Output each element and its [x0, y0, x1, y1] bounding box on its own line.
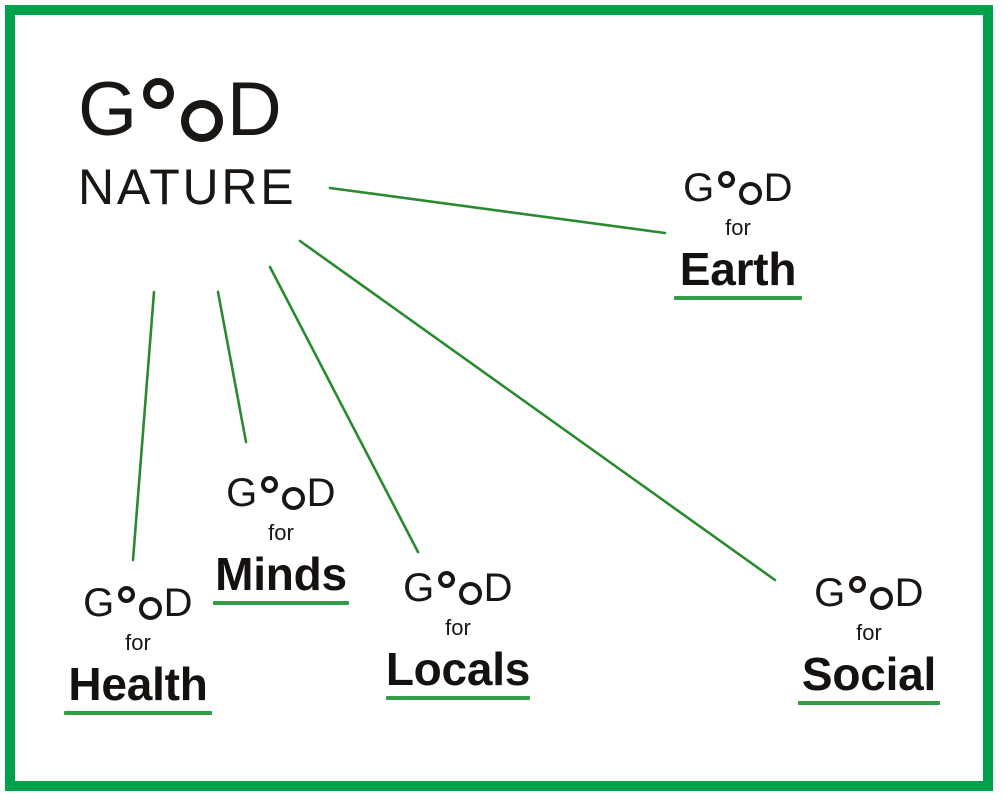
letter-d: D: [764, 168, 793, 208]
letter-g: G: [814, 573, 846, 613]
connector-word: for: [663, 217, 813, 239]
letter-g: G: [403, 568, 435, 608]
root-node-good-nature: G D NATURE: [78, 72, 296, 212]
diagram-canvas: G D NATURE G D for Earth G D for Health: [0, 0, 1004, 804]
letter-g: G: [226, 473, 258, 513]
letter-o-small: [143, 78, 174, 109]
root-brand-nature: NATURE: [78, 162, 296, 212]
brand-good: G D: [83, 583, 193, 623]
node-good-for-earth: G D for Earth: [663, 168, 813, 300]
edge-nature-to-earth: [330, 188, 665, 233]
letter-g: G: [683, 168, 715, 208]
letter-o-small: [718, 171, 735, 188]
edge-nature-to-health: [133, 292, 154, 560]
letter-o-large: [870, 587, 893, 610]
letter-o-small: [438, 571, 455, 588]
connector-word: for: [58, 632, 218, 654]
node-good-for-minds: G D for Minds: [205, 473, 357, 605]
letter-d: D: [484, 568, 513, 608]
node-label: Health: [68, 661, 207, 707]
letter-d: D: [307, 473, 336, 513]
letter-g: G: [78, 72, 138, 148]
letter-d: D: [895, 573, 924, 613]
letter-o-large: [181, 100, 223, 142]
connector-word: for: [378, 617, 538, 639]
letter-o-large: [282, 487, 305, 510]
node-good-for-locals: G D for Locals: [378, 568, 538, 700]
label-underline: [386, 696, 530, 700]
brand-good: G D: [226, 473, 336, 513]
node-label: Locals: [386, 646, 530, 692]
letter-d: D: [164, 583, 193, 623]
edge-nature-to-minds: [218, 292, 246, 442]
label-underline: [213, 601, 349, 605]
brand-good: G D: [403, 568, 513, 608]
letter-o-large: [459, 582, 482, 605]
brand-good: G D: [683, 168, 793, 208]
node-good-for-social: G D for Social: [789, 573, 949, 705]
letter-o-small: [849, 576, 866, 593]
connector-word: for: [205, 522, 357, 544]
node-label: Minds: [215, 551, 347, 597]
root-brand-good: G D: [78, 72, 283, 148]
letter-o-small: [118, 586, 135, 603]
node-label: Social: [802, 651, 936, 697]
letter-o-large: [139, 597, 162, 620]
letter-d: D: [227, 72, 283, 148]
label-underline: [64, 711, 212, 715]
letter-g: G: [83, 583, 115, 623]
brand-good: G D: [814, 573, 924, 613]
node-good-for-health: G D for Health: [58, 583, 218, 715]
connector-word: for: [789, 622, 949, 644]
node-label: Earth: [680, 246, 796, 292]
letter-o-small: [261, 476, 278, 493]
label-underline: [798, 701, 940, 705]
letter-o-large: [739, 182, 762, 205]
label-underline: [674, 296, 802, 300]
